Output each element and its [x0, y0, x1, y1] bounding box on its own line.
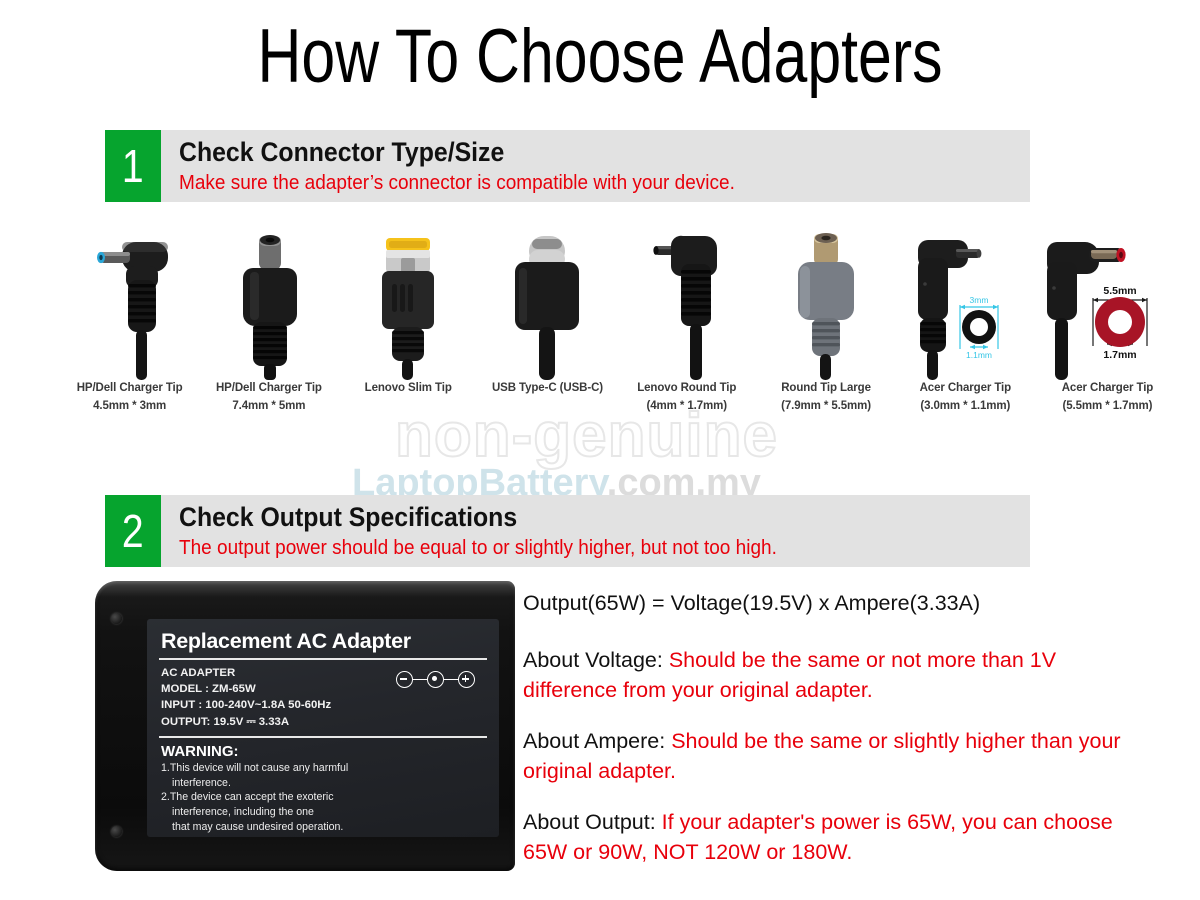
infographic-page: How To Choose Adapters 1 Check Connector…	[0, 0, 1200, 900]
adapter-input: INPUT : 100-240V~1.8A 50-60Hz	[161, 697, 396, 713]
divider	[159, 736, 487, 738]
step-1-text-block: Check Connector Type/Size Make sure the …	[161, 130, 764, 202]
connector-size: (7.9mm * 5.5mm)	[781, 398, 871, 416]
warning-line: 2.The device can accept the exoteric	[161, 790, 489, 805]
connector-label: Acer Charger Tip (3.0mm * 1.1mm)	[920, 380, 1012, 416]
adapter-photo: Replacement AC Adapter AC ADAPTER MODEL …	[95, 578, 510, 878]
adapter-spec-lines: AC ADAPTER MODEL : ZM-65W INPUT : 100-24…	[157, 665, 396, 730]
svg-text:1.1mm: 1.1mm	[966, 350, 992, 360]
polarity-center-icon	[427, 671, 444, 688]
polarity-diagram-icon	[396, 671, 475, 688]
connector-item-hp-dell-74: HP/Dell Charger Tip 7.4mm * 5mm	[199, 228, 338, 433]
connector-name: HP/Dell Charger Tip	[77, 380, 183, 398]
step-1-number-badge: 1	[105, 130, 161, 202]
connector-label: HP/Dell Charger Tip 4.5mm * 3mm	[77, 380, 183, 416]
connector-name: Lenovo Round Tip	[637, 380, 736, 398]
warning-line: interference, including the one	[161, 805, 489, 820]
connector-name: Acer Charger Tip	[1062, 380, 1154, 398]
connector-name: Round Tip Large	[781, 380, 871, 398]
acer-angled-tip-small-icon: 3mm 1.1mm	[896, 228, 1035, 380]
about-output-label: About Output:	[523, 810, 662, 834]
acer-large-ring-diagram: 5.5mm 1.7mm	[1093, 285, 1147, 361]
adapter-spec-row: AC ADAPTER MODEL : ZM-65W INPUT : 100-24…	[157, 665, 489, 730]
step-1-title: Check Connector Type/Size	[179, 137, 717, 167]
adapter-warning-heading: WARNING:	[161, 743, 489, 760]
about-voltage: About Voltage: Should be the same or not…	[523, 645, 1123, 706]
adapter-label-heading: Replacement AC Adapter	[157, 625, 489, 656]
hp-dell-angled-blue-tip-icon	[60, 228, 199, 380]
svg-text:5.5mm: 5.5mm	[1103, 285, 1136, 297]
svg-text:1.7mm: 1.7mm	[1103, 349, 1136, 361]
connector-size: (4mm * 1.7mm)	[637, 398, 736, 416]
step-2-title: Check Output Specifications	[179, 502, 758, 532]
warning-line: that may cause undesired operation.	[161, 820, 489, 835]
connector-label: Round Tip Large (7.9mm * 5.5mm)	[781, 380, 871, 416]
acer-small-ring-diagram: 3mm 1.1mm	[960, 295, 998, 360]
connector-gallery: HP/Dell Charger Tip 4.5mm * 3mm	[60, 228, 1180, 433]
connector-item-lenovo-slim: Lenovo Slim Tip	[339, 228, 478, 433]
svg-text:3mm: 3mm	[969, 295, 988, 305]
adapter-model: MODEL : ZM-65W	[161, 681, 396, 697]
step-2-header: 2 Check Output Specifications The output…	[105, 495, 1030, 567]
output-spec-text: Output(65W) = Voltage(19.5V) x Ampere(3.…	[523, 588, 1123, 888]
connector-size: 4.5mm * 3mm	[77, 398, 183, 416]
connector-item-acer-55: 5.5mm 1.7mm Acer Charger Tip (5.5mm * 1.…	[1035, 228, 1180, 433]
step-1-subtitle: Make sure the adapter’s connector is com…	[179, 171, 735, 195]
screw-icon	[111, 826, 122, 837]
step-2-number-badge: 2	[105, 495, 161, 567]
page-title: How To Choose Adapters	[120, 16, 1080, 98]
connector-item-acer-30: 3mm 1.1mm Acer Charger Tip (3.0mm * 1.1m…	[896, 228, 1035, 433]
polarity-negative-icon	[396, 671, 413, 688]
warning-line: interference.	[161, 776, 489, 791]
warning-line: 1.This device will not cause any harmful	[161, 761, 489, 776]
acer-angled-tip-red-icon: 5.5mm 1.7mm	[1035, 228, 1180, 380]
connector-label: USB Type-C (USB-C)	[492, 380, 603, 398]
step-2-text-block: Check Output Specifications The output p…	[161, 495, 808, 567]
about-ampere: About Ampere: Should be the same or slig…	[523, 726, 1123, 787]
connector-item-lenovo-round: Lenovo Round Tip (4mm * 1.7mm)	[617, 228, 756, 433]
connector-label: Acer Charger Tip (5.5mm * 1.7mm)	[1062, 380, 1154, 416]
polarity-connector-line	[413, 679, 427, 681]
connector-size: (5.5mm * 1.7mm)	[1062, 398, 1154, 416]
connector-item-usb-c: USB Type-C (USB-C)	[478, 228, 617, 433]
usb-type-c-connector-icon	[478, 228, 617, 380]
step-2-subtitle: The output power should be equal to or s…	[179, 536, 777, 560]
step-1-header: 1 Check Connector Type/Size Make sure th…	[105, 130, 1030, 202]
connector-name: Acer Charger Tip	[920, 380, 1012, 398]
lenovo-slim-rectangular-tip-icon	[339, 228, 478, 380]
step-1-number: 1	[122, 143, 144, 189]
adapter-label-panel: Replacement AC Adapter AC ADAPTER MODEL …	[147, 619, 499, 837]
connector-item-hp-dell-45: HP/Dell Charger Tip 4.5mm * 3mm	[60, 228, 199, 433]
hp-dell-straight-barrel-tip-icon	[199, 228, 338, 380]
adapter-output: OUTPUT: 19.5V ⎓ 3.33A	[161, 714, 396, 730]
connector-size: 7.4mm * 5mm	[216, 398, 322, 416]
output-formula: Output(65W) = Voltage(19.5V) x Ampere(3.…	[523, 588, 1123, 619]
step-2-number: 2	[122, 508, 144, 554]
polarity-connector-line	[444, 679, 458, 681]
about-voltage-label: About Voltage:	[523, 648, 669, 672]
connector-size: (3.0mm * 1.1mm)	[920, 398, 1012, 416]
adapter-warning-list: 1.This device will not cause any harmful…	[157, 761, 489, 835]
round-tip-large-gray-icon	[756, 228, 895, 380]
connector-label: Lenovo Slim Tip	[365, 380, 452, 398]
connector-name: USB Type-C (USB-C)	[492, 380, 603, 398]
screw-icon	[111, 613, 122, 624]
connector-label: HP/Dell Charger Tip 7.4mm * 5mm	[216, 380, 322, 416]
connector-name: HP/Dell Charger Tip	[216, 380, 322, 398]
connector-item-round-large: Round Tip Large (7.9mm * 5.5mm)	[756, 228, 895, 433]
lenovo-round-angled-tip-icon	[617, 228, 756, 380]
adapter-brick: Replacement AC Adapter AC ADAPTER MODEL …	[95, 581, 515, 871]
polarity-positive-icon	[458, 671, 475, 688]
connector-label: Lenovo Round Tip (4mm * 1.7mm)	[637, 380, 736, 416]
about-ampere-label: About Ampere:	[523, 729, 671, 753]
about-output: About Output: If your adapter's power is…	[523, 807, 1123, 868]
connector-name: Lenovo Slim Tip	[365, 380, 452, 398]
divider	[159, 658, 487, 660]
adapter-type: AC ADAPTER	[161, 665, 396, 681]
